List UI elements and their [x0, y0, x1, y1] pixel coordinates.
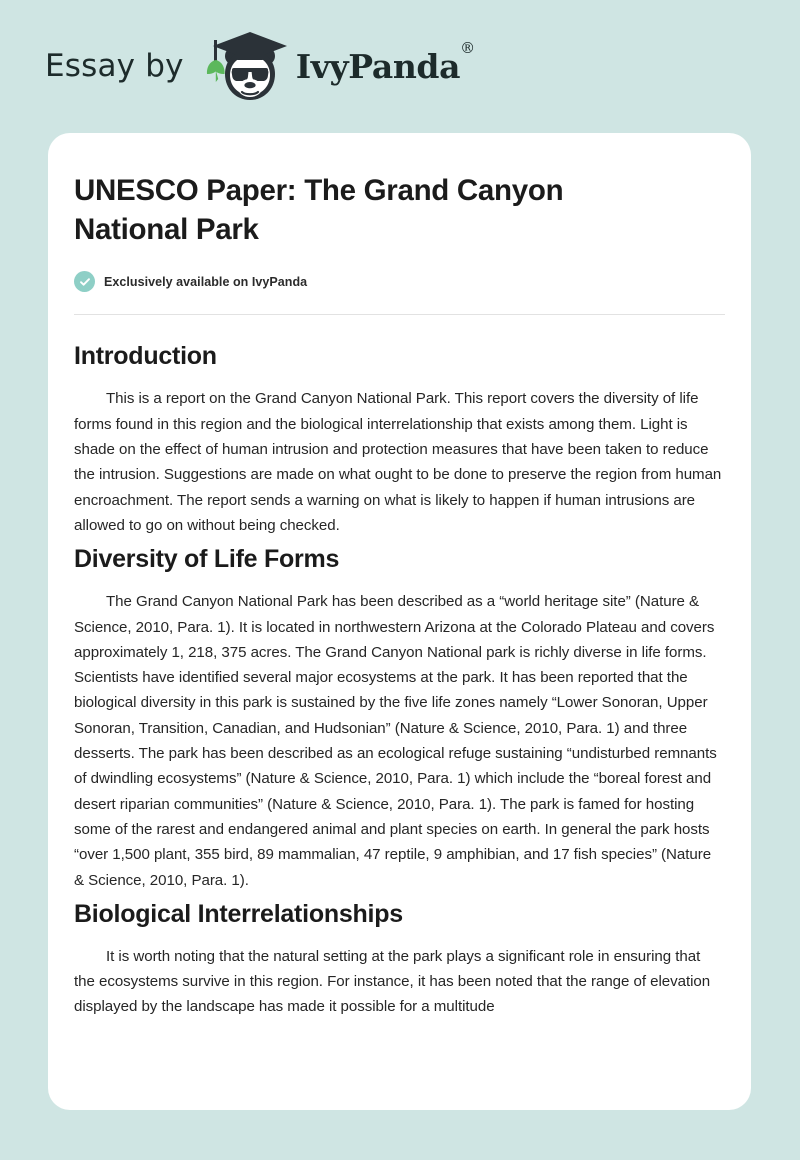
paper-card: UNESCO Paper: The Grand Canyon National …: [48, 133, 751, 1110]
section-heading-biological-interrelationships: Biological Interrelationships: [74, 899, 725, 929]
section-heading-diversity-of-life-forms: Diversity of Life Forms: [74, 544, 725, 574]
exclusive-availability-badge: Exclusively available on IvyPanda: [74, 271, 725, 292]
exclusive-badge-label: Exclusively available on IvyPanda: [104, 275, 307, 289]
brand-wordmark-text: IvyPanda: [296, 47, 460, 86]
title-divider: [74, 314, 725, 315]
paragraph-introduction-1: This is a report on the Grand Canyon Nat…: [74, 386, 725, 538]
brand-logo[interactable]: Essay by: [45, 30, 475, 104]
section-diversity-of-life-forms: Diversity of Life Forms The Grand Canyon…: [74, 544, 725, 893]
section-introduction: Introduction This is a report on the Gra…: [74, 341, 725, 538]
paragraph-biological-1: It is worth noting that the natural sett…: [74, 944, 725, 1020]
section-biological-interrelationships: Biological Interrelationships It is wort…: [74, 899, 725, 1020]
brand-wordmark: IvyPanda®: [296, 50, 475, 83]
section-heading-introduction: Introduction: [74, 341, 725, 371]
panda-graduate-logo-icon: [194, 30, 290, 104]
registered-trademark-mark: ®: [460, 39, 475, 57]
paragraph-diversity-1: The Grand Canyon National Park has been …: [74, 589, 725, 893]
site-header: Essay by: [0, 0, 800, 133]
check-circle-icon: [74, 271, 95, 292]
page-title: UNESCO Paper: The Grand Canyon National …: [74, 171, 674, 249]
paper-content: UNESCO Paper: The Grand Canyon National …: [74, 171, 725, 1020]
essay-by-label: Essay by: [45, 51, 184, 82]
